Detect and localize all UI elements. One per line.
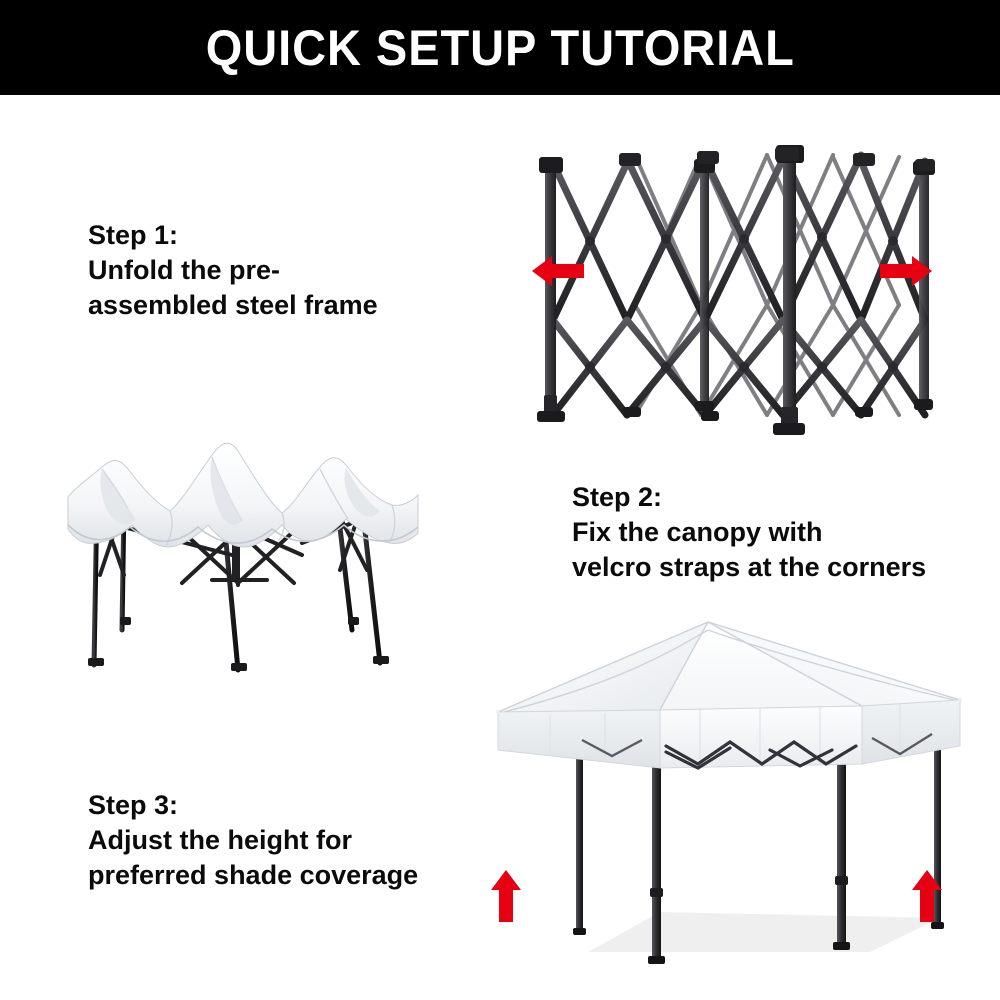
step-1-line-1: Unfold the pre- xyxy=(88,253,378,288)
header-banner: QUICK SETUP TUTORIAL xyxy=(0,0,1000,95)
draped-canopy-illustration xyxy=(62,425,422,690)
step-1-line-2: assembled steel frame xyxy=(88,288,378,323)
step-1-label: Step 1: xyxy=(88,218,378,253)
step-2-label: Step 2: xyxy=(572,480,926,515)
arrow-right-icon xyxy=(878,252,934,290)
step-3-line-2: preferred shade coverage xyxy=(88,858,418,893)
arrow-up-icon xyxy=(908,868,946,924)
page-title: QUICK SETUP TUTORIAL xyxy=(206,23,795,73)
step-2-caption: Step 2: Fix the canopy with velcro strap… xyxy=(572,480,926,585)
step-2-line-2: velcro straps at the corners xyxy=(572,550,926,585)
arrow-up-icon xyxy=(487,868,525,924)
arrow-left-icon xyxy=(530,252,586,290)
step-2-line-1: Fix the canopy with xyxy=(572,515,926,550)
tutorial-page: QUICK SETUP TUTORIAL Step 1: Unfold the … xyxy=(0,0,1000,1000)
step-3-line-1: Adjust the height for xyxy=(88,823,418,858)
step-1-caption: Step 1: Unfold the pre- assembled steel … xyxy=(88,218,378,323)
step-3-caption: Step 3: Adjust the height for preferred … xyxy=(88,788,418,893)
erected-canopy-illustration xyxy=(470,600,970,980)
step-3-label: Step 3: xyxy=(88,788,418,823)
